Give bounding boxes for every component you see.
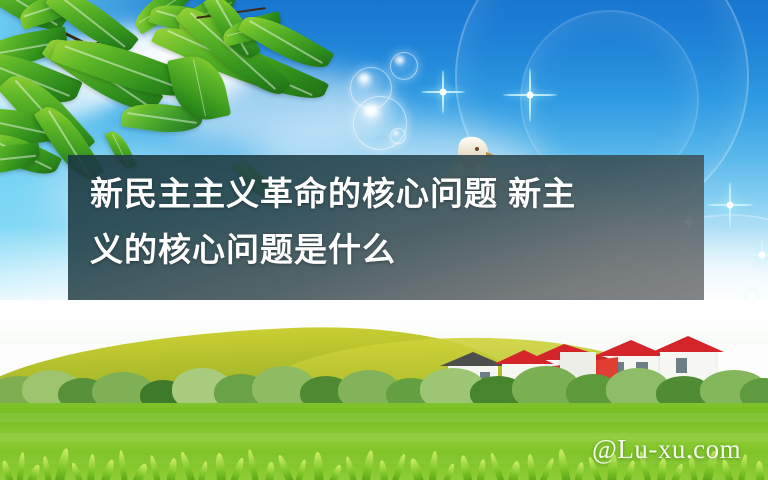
watermark: @Lu-xu.com [592,434,741,465]
soap-bubble-icon [390,128,406,144]
tree-line [0,362,768,407]
soap-bubble-icon [390,52,418,80]
page-title: 新民主主义革命的核心问题 新主义的核心问题是什么 [90,166,710,278]
headline-line-1: 新民主主义革命的核心问题 新主 [90,175,576,212]
headline-line-2: 义的核心问题是什么 [90,231,396,268]
banner-image: 新民主主义革命的核心问题 新主义的核心问题是什么 [0,0,768,480]
